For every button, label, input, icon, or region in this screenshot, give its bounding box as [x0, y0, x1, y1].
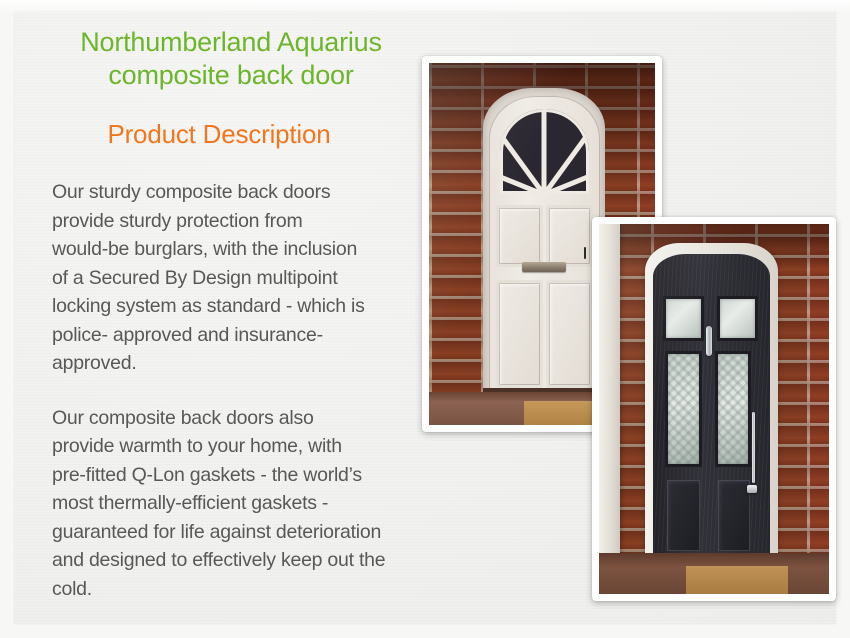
product-photo-black-door[interactable]	[592, 217, 836, 601]
door-lever-icon	[747, 485, 758, 493]
black-door-leaf	[653, 254, 770, 578]
fanlight-window	[500, 109, 589, 195]
door-mat	[686, 566, 787, 594]
door-panel	[499, 283, 540, 385]
door-panel	[718, 480, 751, 551]
door-latch-icon	[584, 247, 587, 259]
door-panel	[549, 283, 590, 385]
door-knocker-icon	[706, 326, 712, 355]
door-glass-pane-top-right	[720, 299, 755, 338]
page-title-line-2: composite back door	[108, 60, 353, 90]
description-paragraph-2: Our composite back doors also provide wa…	[36, 404, 426, 604]
black-door-scene	[599, 224, 829, 594]
fanlight-spoke	[542, 109, 547, 195]
slide-canvas: Northumberland Aquarius composite back d…	[0, 0, 850, 638]
text-column: Northumberland Aquarius composite back d…	[36, 26, 426, 603]
description-paragraph-1: Our sturdy composite back doors provide …	[36, 178, 426, 378]
door-handle-icon	[752, 412, 756, 483]
door-panel	[499, 208, 540, 264]
page-title: Northumberland Aquarius composite back d…	[36, 26, 426, 92]
door-glass-panel-right	[718, 354, 748, 464]
black-door-photo-content	[599, 224, 829, 594]
white-door-leaf	[489, 96, 600, 425]
page-title-line-1: Northumberland Aquarius	[80, 27, 382, 57]
door-glass-panel-left	[668, 354, 698, 464]
door-panel	[667, 480, 700, 551]
content-card: Northumberland Aquarius composite back d…	[14, 12, 836, 624]
white-pillar	[599, 224, 620, 594]
section-heading: Product Description	[36, 118, 426, 150]
door-glass-pane-top-left	[666, 299, 701, 338]
letterbox-icon	[522, 262, 566, 273]
